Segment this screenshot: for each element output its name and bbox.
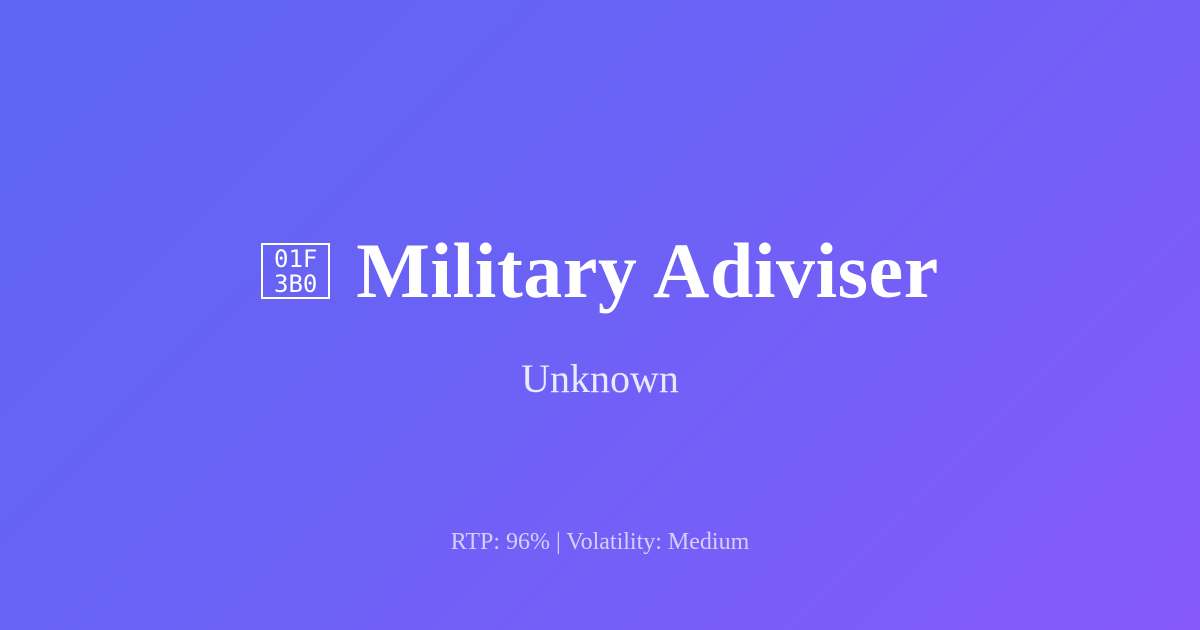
title-row: 01F 3B0 Military Adiviser: [0, 232, 1200, 310]
tofu-codepoint-top: 01F: [274, 247, 317, 272]
tofu-codepoint-bottom: 3B0: [274, 272, 317, 297]
og-share-card: 01F 3B0 Military Adiviser Unknown RTP: 9…: [0, 0, 1200, 630]
page-title: Military Adiviser: [356, 232, 939, 310]
card-subtitle: Unknown: [521, 357, 679, 401]
card-meta-line: RTP: 96% | Volatility: Medium: [0, 527, 1200, 557]
slot-machine-emoji-icon: 01F 3B0: [261, 243, 330, 299]
